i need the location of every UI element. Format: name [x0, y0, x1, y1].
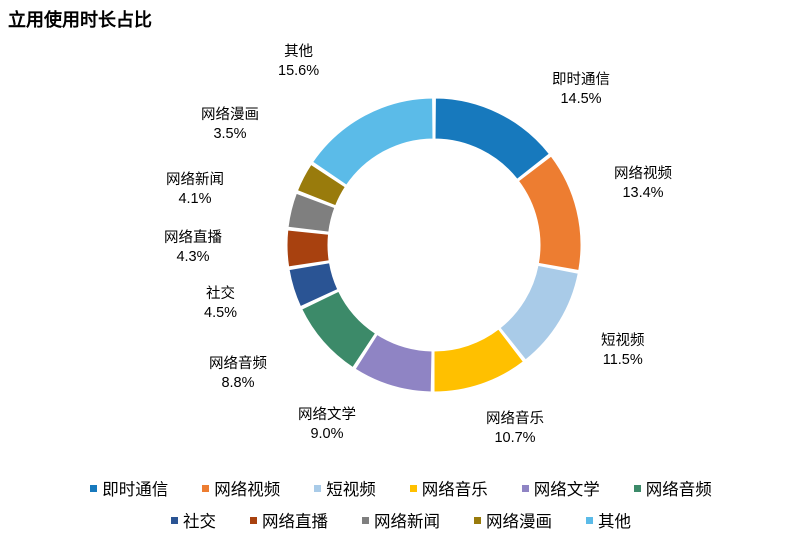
legend-swatch-icon	[474, 517, 481, 524]
donut-slice[interactable]	[287, 230, 329, 267]
slice-label-category: 网络直播	[164, 229, 222, 248]
legend-item[interactable]: 网络视频	[202, 476, 280, 500]
legend-swatch-icon	[202, 485, 209, 492]
legend-item-label: 网络漫画	[486, 508, 552, 532]
slice-data-label: 网络音乐10.7%	[486, 410, 544, 447]
legend-item-label: 网络音乐	[422, 476, 488, 500]
slice-data-label: 其他15.6%	[278, 43, 319, 80]
legend-item-label: 社交	[183, 508, 216, 532]
slice-data-label: 短视频11.5%	[601, 332, 645, 369]
legend-swatch-icon	[586, 517, 593, 524]
legend-item[interactable]: 网络漫画	[474, 508, 552, 532]
slice-data-label: 即时通信14.5%	[552, 71, 610, 108]
slice-label-percent: 11.5%	[601, 351, 645, 370]
legend-swatch-icon	[634, 485, 641, 492]
donut-svg	[0, 0, 802, 470]
slice-label-percent: 3.5%	[201, 125, 259, 144]
slice-label-category: 网络文学	[298, 406, 356, 425]
slice-label-category: 即时通信	[552, 71, 610, 90]
slice-label-percent: 4.5%	[204, 304, 237, 323]
slice-label-percent: 9.0%	[298, 425, 356, 444]
slice-data-label: 网络视频13.4%	[614, 165, 672, 202]
legend-item-label: 网络音频	[646, 476, 712, 500]
legend-item[interactable]: 网络新闻	[362, 508, 440, 532]
legend-item-label: 网络新闻	[374, 508, 440, 532]
slice-label-category: 网络音乐	[486, 410, 544, 429]
slice-label-category: 网络视频	[614, 165, 672, 184]
legend-item[interactable]: 社交	[171, 508, 216, 532]
slice-label-percent: 4.3%	[164, 248, 222, 267]
legend-item-label: 网络视频	[214, 476, 280, 500]
donut-slice-group	[287, 98, 581, 392]
slice-label-percent: 4.1%	[166, 190, 224, 209]
slice-data-label: 社交4.5%	[204, 285, 237, 322]
legend-item[interactable]: 网络直播	[250, 508, 328, 532]
slice-label-percent: 14.5%	[552, 90, 610, 109]
donut-slice[interactable]	[313, 98, 433, 185]
legend-item[interactable]: 其他	[586, 508, 631, 532]
legend-swatch-icon	[522, 485, 529, 492]
slice-label-category: 网络新闻	[166, 171, 224, 190]
slice-label-category: 网络音频	[209, 355, 267, 374]
slice-label-category: 社交	[204, 285, 237, 304]
legend-item[interactable]: 网络音频	[634, 476, 712, 500]
legend-item-label: 其他	[598, 508, 631, 532]
legend-swatch-icon	[362, 517, 369, 524]
slice-data-label: 网络漫画3.5%	[201, 106, 259, 143]
legend-row-2: 社交网络直播网络新闻网络漫画其他	[0, 504, 802, 536]
slice-label-category: 短视频	[601, 332, 645, 351]
chart-legend: 即时通信网络视频短视频网络音乐网络文学网络音频 社交网络直播网络新闻网络漫画其他	[0, 470, 802, 546]
legend-swatch-icon	[171, 517, 178, 524]
legend-item-label: 网络直播	[262, 508, 328, 532]
slice-data-label: 网络文学9.0%	[298, 406, 356, 443]
legend-item-label: 网络文学	[534, 476, 600, 500]
donut-slice[interactable]	[518, 156, 581, 270]
donut-slice[interactable]	[435, 98, 549, 179]
slice-label-percent: 13.4%	[614, 184, 672, 203]
slice-label-percent: 8.8%	[209, 374, 267, 393]
chart-page: 立用使用时长占比 即时通信14.5%网络视频13.4%短视频11.5%网络音乐1…	[0, 0, 802, 546]
slice-label-category: 其他	[278, 43, 319, 62]
slice-data-label: 网络新闻4.1%	[166, 171, 224, 208]
legend-item-label: 短视频	[326, 476, 376, 500]
legend-item[interactable]: 即时通信	[90, 476, 168, 500]
legend-row-1: 即时通信网络视频短视频网络音乐网络文学网络音频	[0, 472, 802, 504]
donut-chart	[0, 0, 802, 470]
legend-swatch-icon	[90, 485, 97, 492]
legend-item[interactable]: 网络文学	[522, 476, 600, 500]
legend-swatch-icon	[314, 485, 321, 492]
slice-label-percent: 15.6%	[278, 62, 319, 81]
slice-data-label: 网络直播4.3%	[164, 229, 222, 266]
legend-swatch-icon	[250, 517, 257, 524]
legend-swatch-icon	[410, 485, 417, 492]
slice-label-category: 网络漫画	[201, 106, 259, 125]
legend-item-label: 即时通信	[102, 476, 168, 500]
slice-label-percent: 10.7%	[486, 429, 544, 448]
legend-item[interactable]: 网络音乐	[410, 476, 488, 500]
slice-data-label: 网络音频8.8%	[209, 355, 267, 392]
legend-item[interactable]: 短视频	[314, 476, 376, 500]
